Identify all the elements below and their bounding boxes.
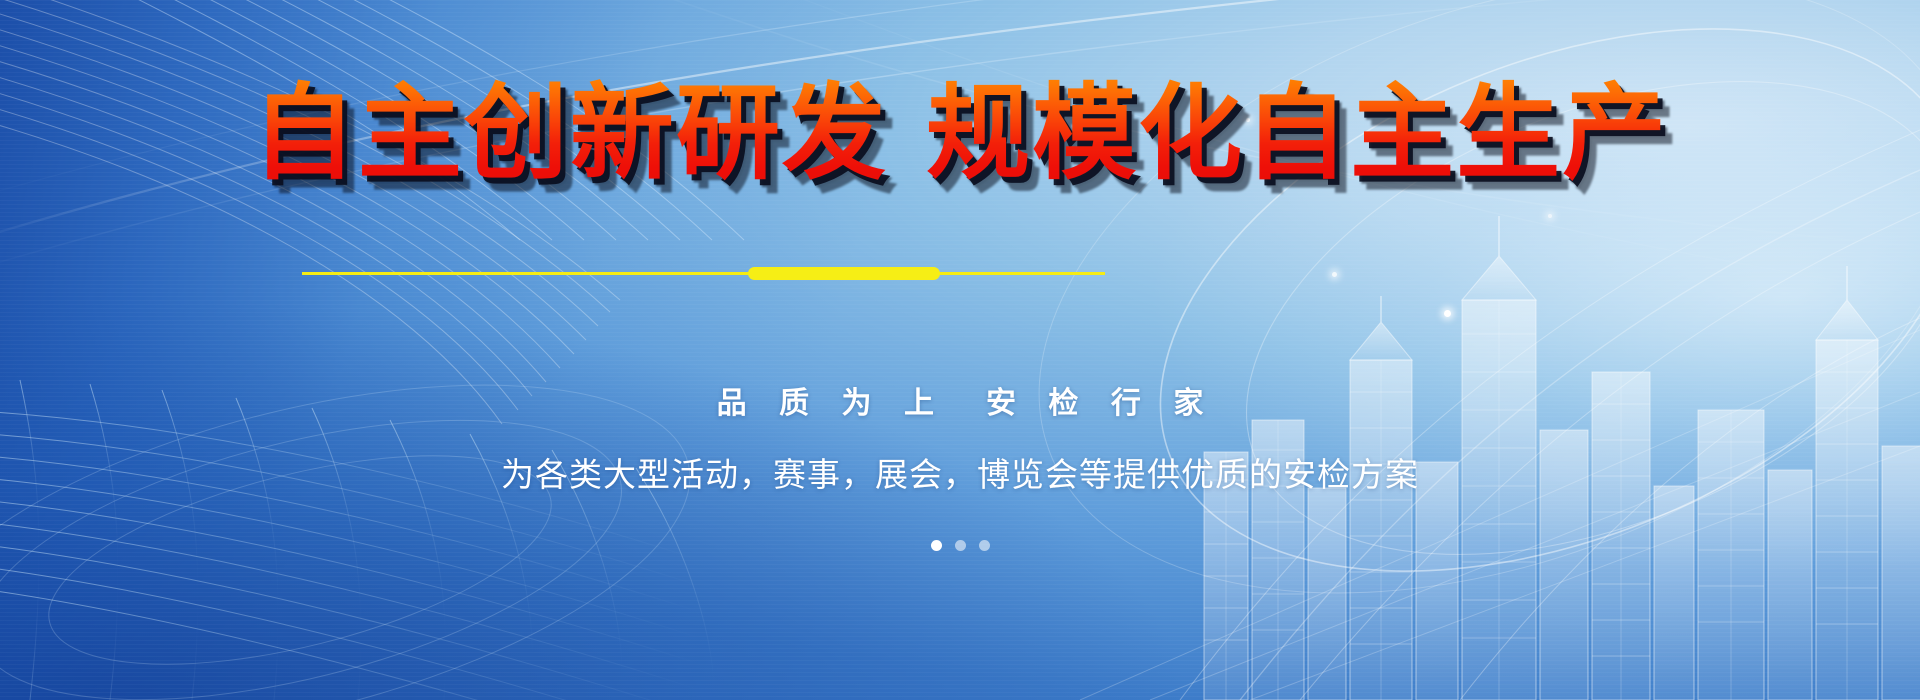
carousel-dot-3[interactable]	[979, 540, 990, 551]
carousel-dot-1[interactable]	[931, 540, 942, 551]
banner-subtitle: 品 质 为 上 安 检 行 家	[0, 378, 1920, 422]
carousel-dots[interactable]	[0, 540, 1920, 551]
banner-description: 为各类大型活动，赛事，展会，博览会等提供优质的安检方案	[0, 448, 1920, 496]
hero-banner: 自主创新研发 规模化自主生产 品 质 为 上 安 检 行 家 为各类大型活动，赛…	[0, 0, 1920, 700]
banner-content: 自主创新研发 规模化自主生产 品 质 为 上 安 检 行 家 为各类大型活动，赛…	[0, 0, 1920, 700]
headline-wrapper: 自主创新研发 规模化自主生产	[0, 72, 1920, 195]
yellow-divider	[302, 272, 1105, 275]
carousel-dot-2[interactable]	[955, 540, 966, 551]
banner-headline: 自主创新研发 规模化自主生产	[252, 72, 1668, 195]
